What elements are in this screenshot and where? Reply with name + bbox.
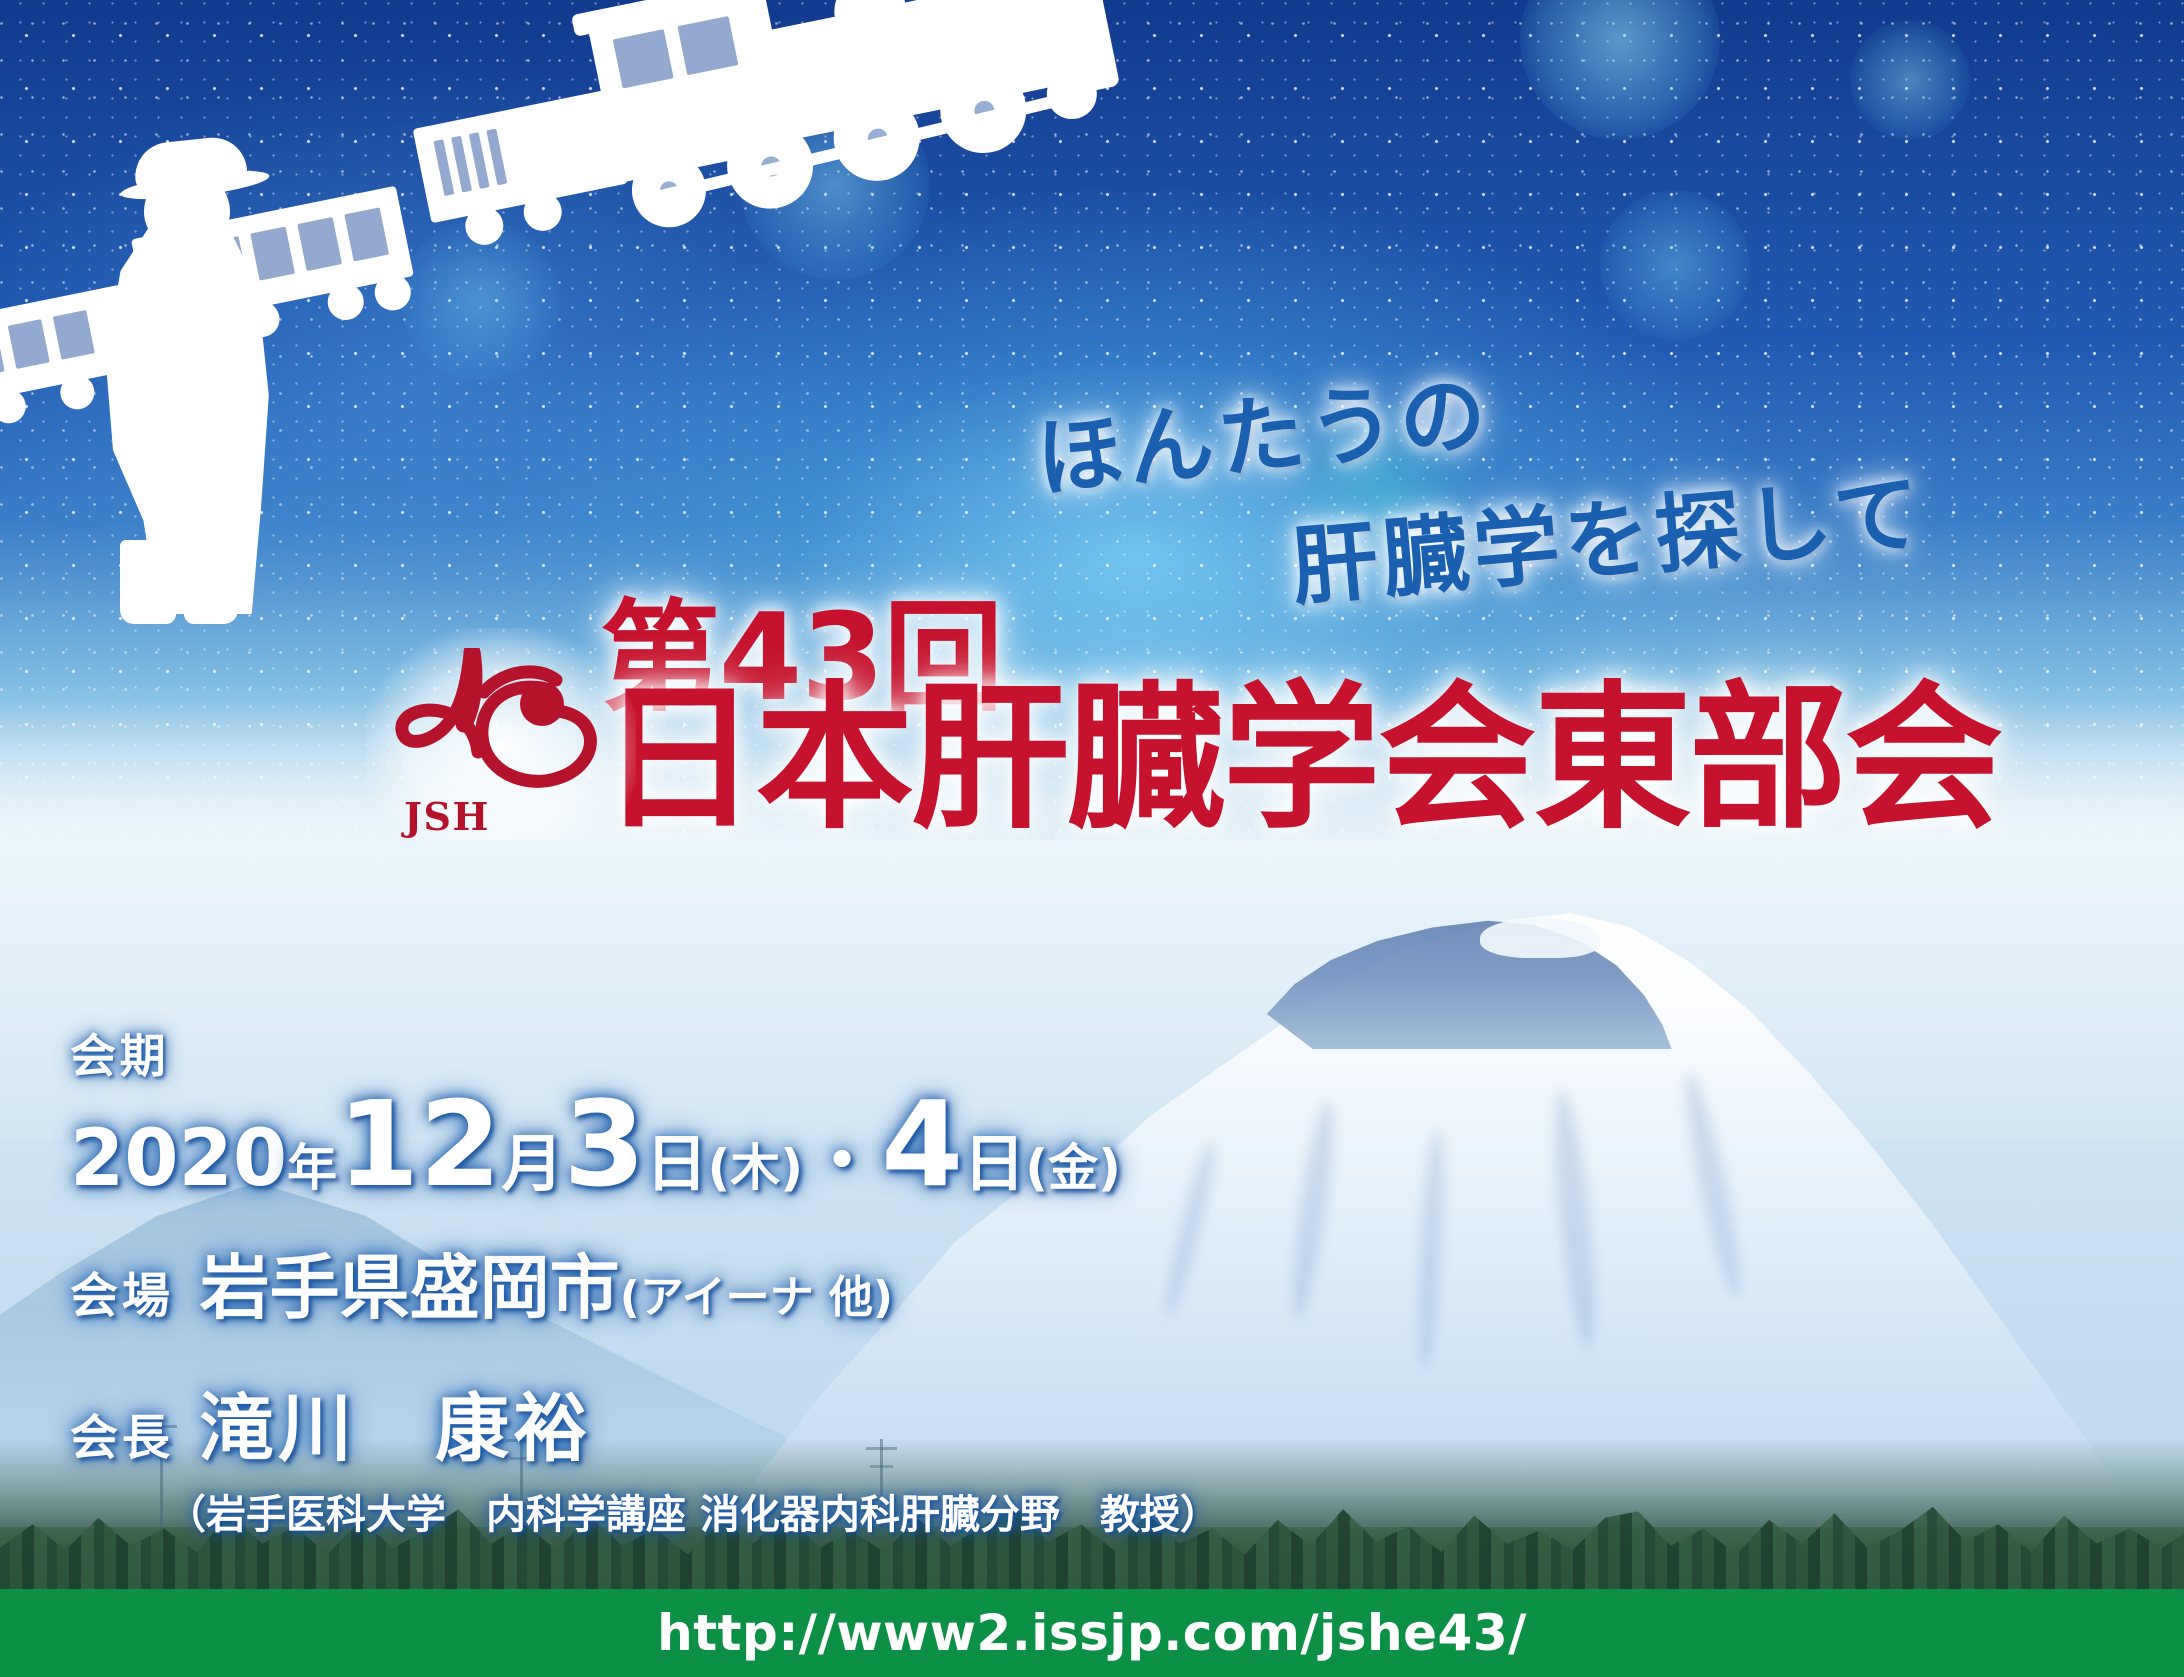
period-separator: ・ xyxy=(803,1105,881,1206)
period-year-unit: 年 xyxy=(287,1128,337,1200)
period-value: 2020 年 12 月 3 日 (木) ・ 4 日 (金) xyxy=(70,1088,1320,1206)
conference-website-url[interactable]: http://www2.issjp.com/jshe43/ xyxy=(657,1604,1527,1662)
event-details: 会期 2020 年 12 月 3 日 (木) ・ 4 日 (金) 会場 岩手県盛… xyxy=(70,1020,1320,1540)
chair-name: 滝川 康裕 xyxy=(200,1369,592,1476)
period-day2-weekday: (金) xyxy=(1025,1128,1121,1200)
summit-snow-patch xyxy=(1480,918,1600,958)
venue-row: 会場 岩手県盛岡市 (アイーナ 他) xyxy=(70,1232,1320,1333)
right-leg xyxy=(184,536,238,624)
period-day2-unit: 日 xyxy=(963,1113,1025,1203)
person-silhouette xyxy=(80,140,310,610)
left-leg xyxy=(120,540,176,624)
cab-window xyxy=(677,16,738,75)
period-day1: 3 xyxy=(563,1088,645,1200)
cab-window xyxy=(613,29,674,88)
venue-note: (アイーナ 他) xyxy=(620,1261,893,1325)
period-month-unit: 月 xyxy=(501,1113,563,1203)
period-year: 2020 xyxy=(70,1114,287,1204)
jsh-logo: JSH xyxy=(392,648,612,848)
chair-label: 会長 xyxy=(70,1398,174,1468)
chair-affiliation: （岩手医科大学 内科学講座 消化器内科肝臓分野 教授） xyxy=(166,1482,1320,1540)
train-wheel xyxy=(0,386,29,426)
period-day2: 4 xyxy=(881,1088,963,1200)
jsh-acronym: JSH xyxy=(404,794,490,839)
period-day1-weekday: (木) xyxy=(707,1128,803,1200)
period-label: 会期 xyxy=(70,1020,1320,1086)
venue-city: 岩手県盛岡市 xyxy=(200,1232,620,1333)
conference-poster: ほんたうの 肝臓学を探して 第43回 日本肝臓学会東部会 JSH xyxy=(0,0,2184,1677)
conference-society-name: 日本肝臓学会東部会 xyxy=(600,680,2001,838)
period-month: 12 xyxy=(337,1088,501,1200)
chair-row: 会長 滝川 康裕 xyxy=(70,1369,1320,1476)
period-day1-unit: 日 xyxy=(645,1113,707,1203)
url-banner: http://www2.issjp.com/jshe43/ xyxy=(0,1589,2184,1677)
venue-label: 会場 xyxy=(70,1256,174,1326)
jsh-liver-mark-icon xyxy=(392,648,612,798)
